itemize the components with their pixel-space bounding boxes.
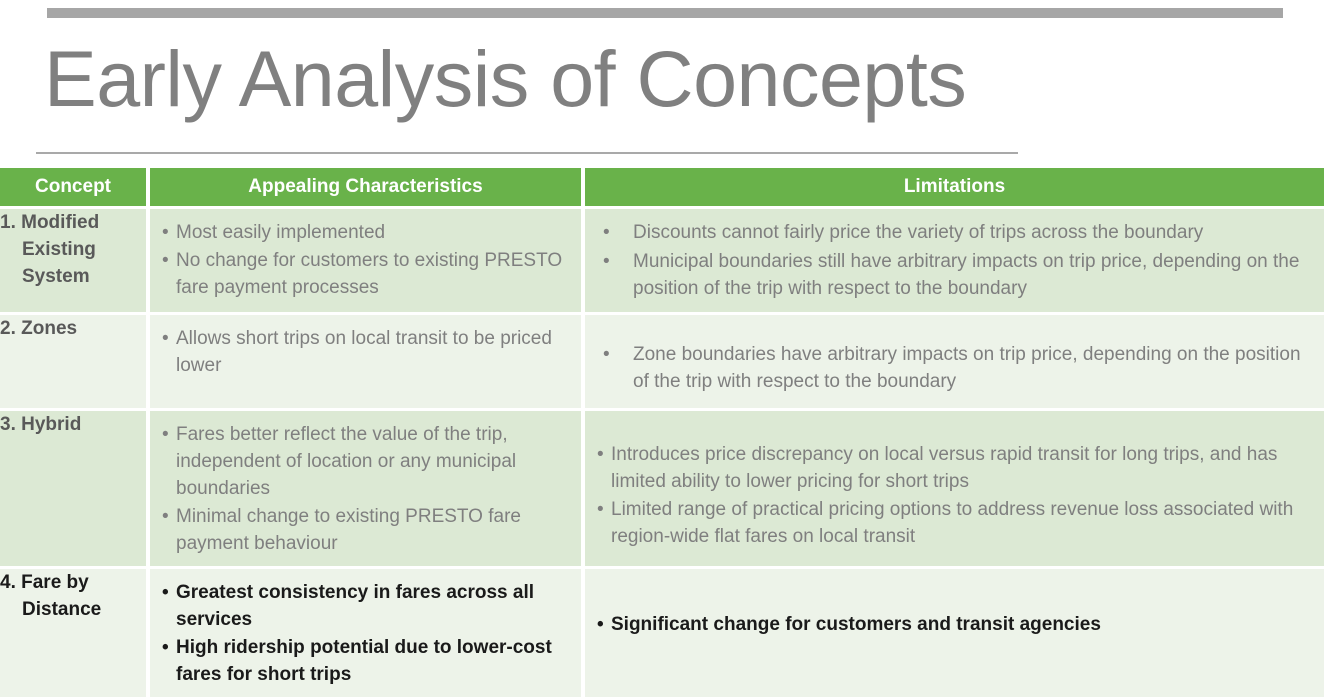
appealing-list: Greatest consistency in fares across all… xyxy=(150,569,581,697)
cell-limitations: Significant change for customers and tra… xyxy=(585,569,1324,700)
column-header-appealing-characteristics: Appealing Characteristics xyxy=(150,168,585,209)
concept-label: 3. Hybrid xyxy=(0,411,146,438)
limitations-list: Discounts cannot fairly price the variet… xyxy=(585,209,1324,312)
list-item: No change for customers to existing PRES… xyxy=(162,247,573,301)
list-item: Limited range of practical pricing optio… xyxy=(597,496,1316,550)
limitations-list: Zone boundaries have arbitrary impacts o… xyxy=(585,315,1324,405)
concept-label: 2. Zones xyxy=(0,315,146,342)
list-item: Zone boundaries have arbitrary impacts o… xyxy=(603,341,1316,395)
list-item: Allows short trips on local transit to b… xyxy=(162,325,573,379)
list-item: Introduces price discrepancy on local ve… xyxy=(597,441,1316,495)
cell-limitations: Introduces price discrepancy on local ve… xyxy=(585,411,1324,569)
column-header-limitations: Limitations xyxy=(585,168,1324,209)
cell-concept: 1. Modified Existing System xyxy=(0,209,150,315)
list-item: Discounts cannot fairly price the variet… xyxy=(603,219,1316,246)
concept-label: 1. Modified Existing System xyxy=(0,209,146,290)
limitations-list: Significant change for customers and tra… xyxy=(585,569,1324,647)
limitations-list: Introduces price discrepancy on local ve… xyxy=(585,411,1324,559)
top-accent-bar xyxy=(47,8,1283,18)
table-row: 1. Modified Existing System Most easily … xyxy=(0,209,1324,315)
table-row: 4. Fare by Distance Greatest consistency… xyxy=(0,569,1324,700)
concept-label: 4. Fare by Distance xyxy=(0,569,146,623)
list-item: Minimal change to existing PRESTO fare p… xyxy=(162,503,573,557)
cell-appealing-characteristics: Fares better reflect the value of the tr… xyxy=(150,411,585,569)
column-header-concept: Concept xyxy=(0,168,150,209)
cell-concept: 2. Zones xyxy=(0,315,150,411)
table-row: 3. Hybrid Fares better reflect the value… xyxy=(0,411,1324,569)
cell-appealing-characteristics: Greatest consistency in fares across all… xyxy=(150,569,585,700)
cell-concept: 4. Fare by Distance xyxy=(0,569,150,700)
concepts-comparison-table: Concept Appealing Characteristics Limita… xyxy=(0,168,1324,700)
page-title: Early Analysis of Concepts xyxy=(44,36,1144,122)
list-item: Most easily implemented xyxy=(162,219,573,246)
cell-appealing-characteristics: Allows short trips on local transit to b… xyxy=(150,315,585,411)
appealing-list: Allows short trips on local transit to b… xyxy=(150,315,581,388)
list-item: Greatest consistency in fares across all… xyxy=(162,579,573,633)
list-item: Fares better reflect the value of the tr… xyxy=(162,421,573,502)
table-header: Concept Appealing Characteristics Limita… xyxy=(0,168,1324,209)
list-item: Municipal boundaries still have arbitrar… xyxy=(603,248,1316,302)
cell-appealing-characteristics: Most easily implemented No change for cu… xyxy=(150,209,585,315)
appealing-list: Most easily implemented No change for cu… xyxy=(150,209,581,310)
cell-limitations: Discounts cannot fairly price the variet… xyxy=(585,209,1324,315)
cell-limitations: Zone boundaries have arbitrary impacts o… xyxy=(585,315,1324,411)
cell-concept: 3. Hybrid xyxy=(0,411,150,569)
table-row: 2. Zones Allows short trips on local tra… xyxy=(0,315,1324,411)
appealing-list: Fares better reflect the value of the tr… xyxy=(150,411,581,566)
list-item: High ridership potential due to lower-co… xyxy=(162,634,573,688)
title-divider-rule xyxy=(36,152,1018,154)
list-item: Significant change for customers and tra… xyxy=(597,611,1316,638)
table-header-row: Concept Appealing Characteristics Limita… xyxy=(0,168,1324,209)
table-body: 1. Modified Existing System Most easily … xyxy=(0,209,1324,700)
